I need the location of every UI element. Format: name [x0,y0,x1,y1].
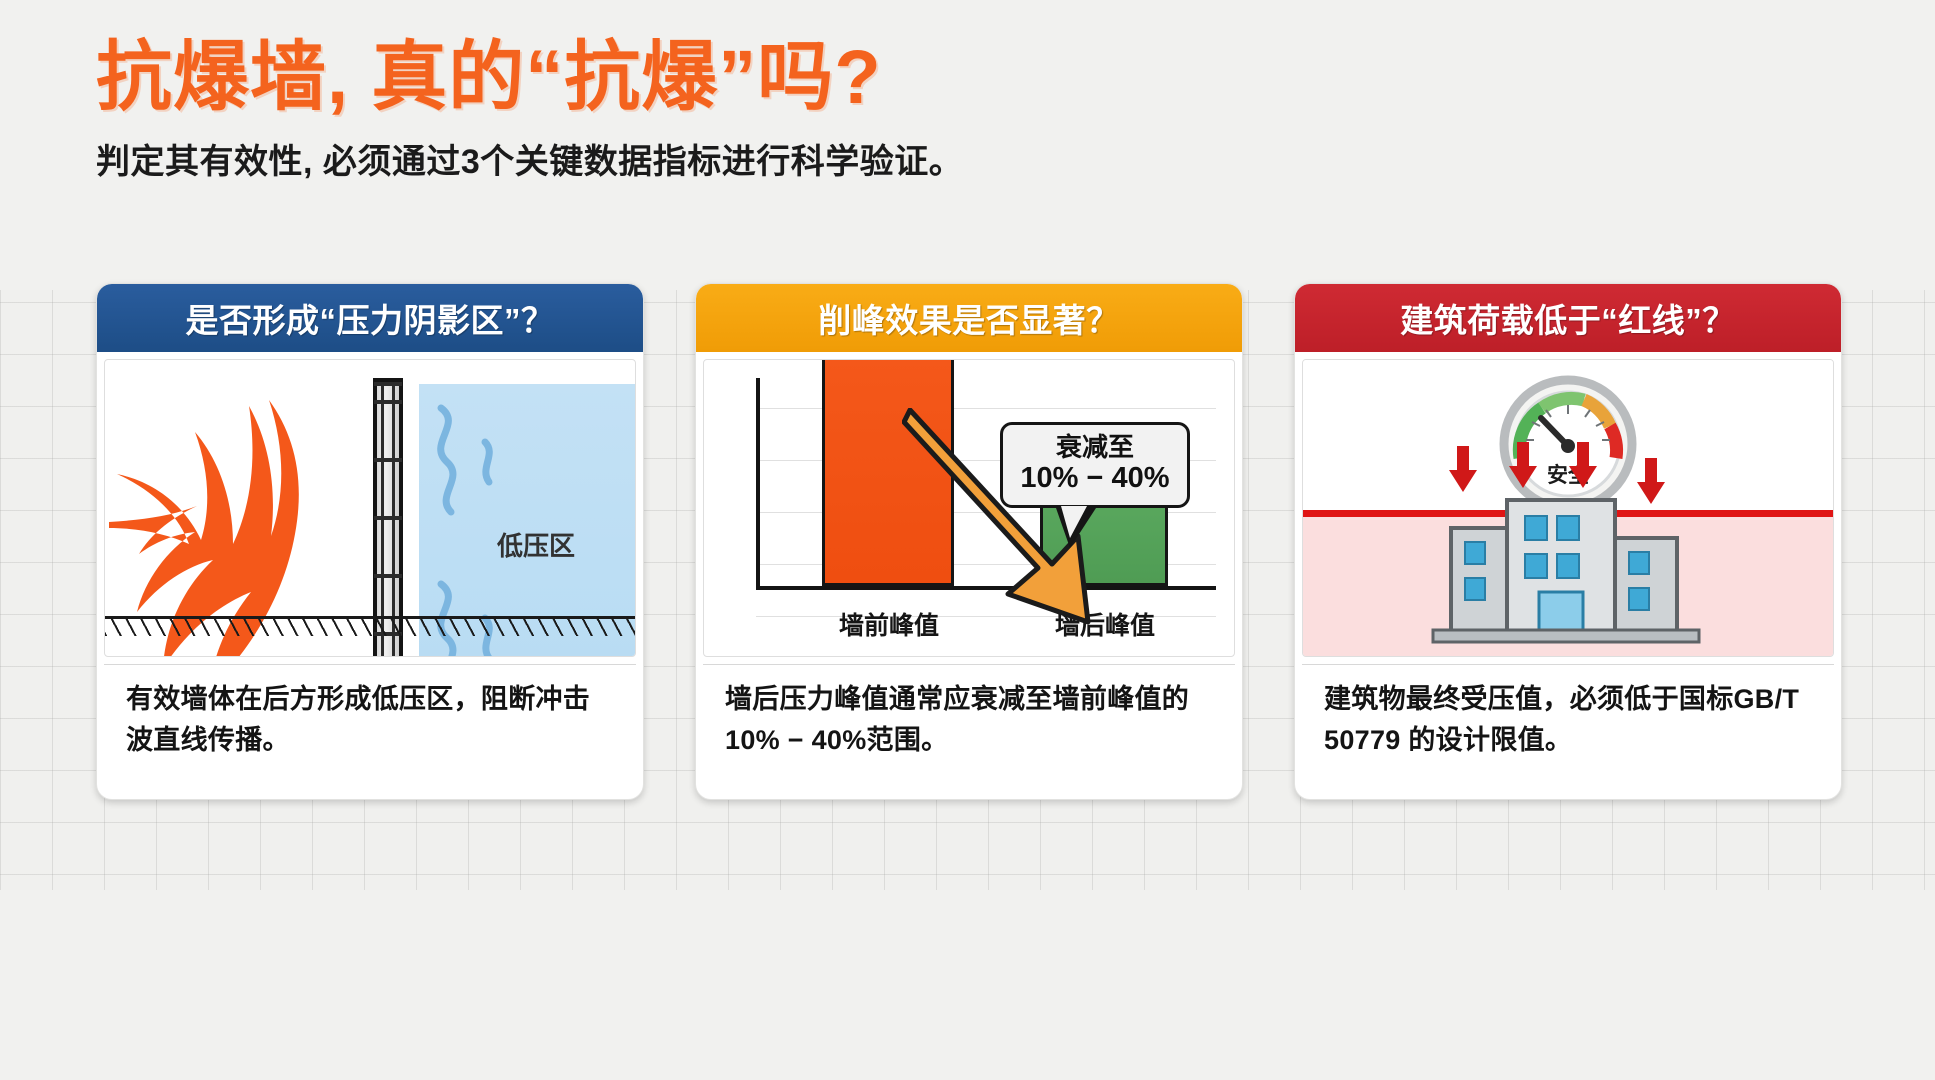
figure-bar-chart: 墙前峰值 墙后峰值 衰减至 10% − 40% [703,359,1235,657]
page-header: 抗爆墙, 真的“抗爆”吗? 判定其有效性, 必须通过3个关键数据指标进行科学验证… [96,38,963,183]
card-caption-structural-load: 建筑物最终受压值，必须低于国标GB/T 50779 的设计限值。 [1302,664,1834,792]
rebar-horizontal [374,516,402,520]
card-header-peak-reduction: 削峰效果是否显著？ [696,284,1242,352]
rebar-horizontal [374,382,402,386]
card-pressure-shadow: 是否形成“压力阴影区”？ 低压区 [96,283,644,800]
chart-y-axis [756,378,760,590]
attenuation-callout: 衰减至 10% − 40% [1000,422,1190,508]
figure-blast-wall: 低压区 [104,359,636,657]
ground-hatch-pattern [105,618,635,636]
rebar-horizontal [374,574,402,578]
callout-tail [1056,508,1096,548]
card-caption-pressure-shadow: 有效墙体在后方形成低压区，阻断冲击波直线传播。 [104,664,636,792]
rebar-horizontal [374,400,402,404]
caption-text: 墙后压力峰值通常应衰减至墙前峰值的10% − 40%范围。 [725,679,1213,760]
page-title: 抗爆墙, 真的“抗爆”吗? [96,38,963,118]
cards-row: 是否形成“压力阴影区”？ 低压区 [96,283,1842,800]
figure-gauge-building: 安全 [1302,359,1834,657]
caption-text: 有效墙体在后方形成低压区，阻断冲击波直线传播。 [126,679,614,760]
background-bottom-wash [0,890,1935,1080]
ground-hatching [105,616,635,636]
rebar-horizontal [374,458,402,462]
page-subtitle: 判定其有效性, 必须通过3个关键数据指标进行科学验证。 [96,134,963,183]
building-load-icon [1423,442,1713,648]
card-caption-peak-reduction: 墙后压力峰值通常应衰减至墙前峰值的10% − 40%范围。 [703,664,1235,792]
callout-line-2: 10% − 40% [1009,462,1181,494]
card-peak-reduction: 削峰效果是否显著？ 墙前峰值 墙后峰值 衰减至 [695,283,1243,800]
callout-line-1: 衰减至 [1009,433,1181,462]
bar-chart: 墙前峰值 墙后峰值 衰减至 10% − 40% [704,360,1234,656]
card-structural-load: 建筑荷载低于“红线”？ [1294,283,1842,800]
card-header-pressure-shadow: 是否形成“压力阴影区”？ [97,284,643,352]
card-header-structural-load: 建筑荷载低于“红线”？ [1295,284,1841,352]
caption-text: 建筑物最终受压值，必须低于国标GB/T 50779 的设计限值。 [1324,679,1812,760]
